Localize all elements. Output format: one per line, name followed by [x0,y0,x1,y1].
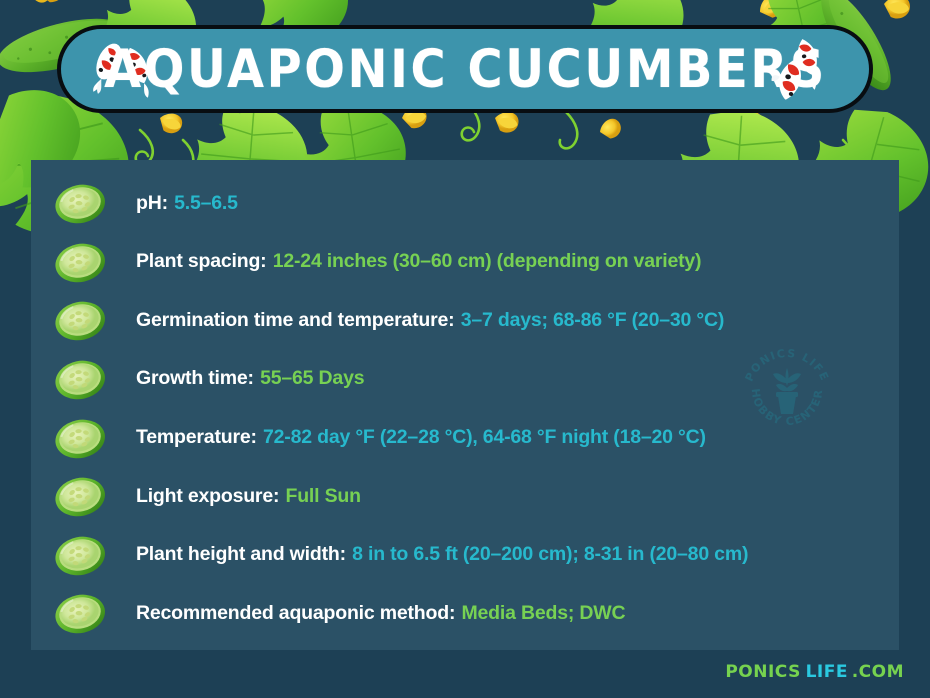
spec-row: Plant height and width:8 in to 6.5 ft (2… [31,526,899,585]
cucumber-slice-icon [52,590,108,636]
spec-value: 8 in to 6.5 ft (20–200 cm); 8-31 in (20–… [352,543,748,565]
cucumber-slice-icon [52,473,108,519]
spec-value: 12-24 inches (30–60 cm) (depending on va… [273,250,702,272]
spec-value: 55–65 Days [260,367,364,389]
spec-label: Growth time: [136,367,254,389]
spec-value: Media Beds; DWC [461,602,625,624]
cucumber-slice-icon [52,356,108,402]
cucumber-slice-icon [52,473,108,519]
brand-part-ponics: PONICS [725,662,801,682]
cucumber-slice-icon [52,590,108,636]
cucumber-slice-icon [52,356,108,402]
spec-value: 72-82 day °F (22–28 °C), 64-68 °F night … [263,426,706,448]
spec-text: pH:5.5–6.5 [136,193,238,214]
spec-label: pH: [136,192,168,214]
spec-row: Temperature:72-82 day °F (22–28 °C), 64-… [31,408,899,467]
cucumber-slice-icon [52,239,108,285]
brand-footer: PONICSLIFE.COM [725,662,904,682]
cucumber-slice-icon [52,297,108,343]
spec-row: Recommended aquaponic method:Media Beds;… [31,584,899,643]
title-banner: AQUAPONIC CUCUMBERS [57,25,873,113]
infographic-poster: AQUAPONIC CUCUMBERS [0,0,930,698]
cucumber-slice-icon [52,180,108,226]
spec-row: Plant spacing:12-24 inches (30–60 cm) (d… [31,233,899,292]
cucumber-slice-icon [52,532,108,578]
spec-text: Germination time and temperature:3–7 day… [136,310,724,331]
spec-text: Recommended aquaponic method:Media Beds;… [136,603,625,624]
spec-label: Germination time and temperature: [136,309,454,331]
spec-text: Temperature:72-82 day °F (22–28 °C), 64-… [136,427,706,448]
spec-label: Plant spacing: [136,250,266,272]
cucumber-slice-icon [52,297,108,343]
koi-fish-pair-icon [769,34,847,105]
spec-row: Growth time:55–65 Days [31,350,899,409]
cucumber-slice-icon [52,415,108,461]
spec-label: Temperature: [136,426,257,448]
spec-value: 5.5–6.5 [174,192,238,214]
spec-text: Plant spacing:12-24 inches (30–60 cm) (d… [136,251,701,272]
spec-text: Growth time:55–65 Days [136,368,364,389]
spec-row: Light exposure:Full Sun [31,467,899,526]
spec-label: Plant height and width: [136,543,346,565]
brand-part-com: .COM [852,662,904,682]
spec-value: 3–7 days; 68-86 °F (20–30 °C) [461,309,724,331]
cucumber-slice-icon [52,239,108,285]
spec-label: Recommended aquaponic method: [136,602,455,624]
spec-text: Plant height and width:8 in to 6.5 ft (2… [136,544,748,565]
spec-value: Full Sun [286,485,361,507]
brand-part-life: LIFE [806,662,848,682]
cucumber-slice-icon [52,415,108,461]
spec-label: Light exposure: [136,485,279,507]
spec-list: pH:5.5–6.5 Plant spacing:12-24 inches ( [31,160,899,650]
page-title: AQUAPONIC CUCUMBERS [104,43,827,95]
cucumber-slice-icon [52,180,108,226]
cucumber-slice-icon [52,532,108,578]
spec-row: pH:5.5–6.5 [31,174,899,233]
spec-text: Light exposure:Full Sun [136,486,361,507]
spec-row: Germination time and temperature:3–7 day… [31,291,899,350]
